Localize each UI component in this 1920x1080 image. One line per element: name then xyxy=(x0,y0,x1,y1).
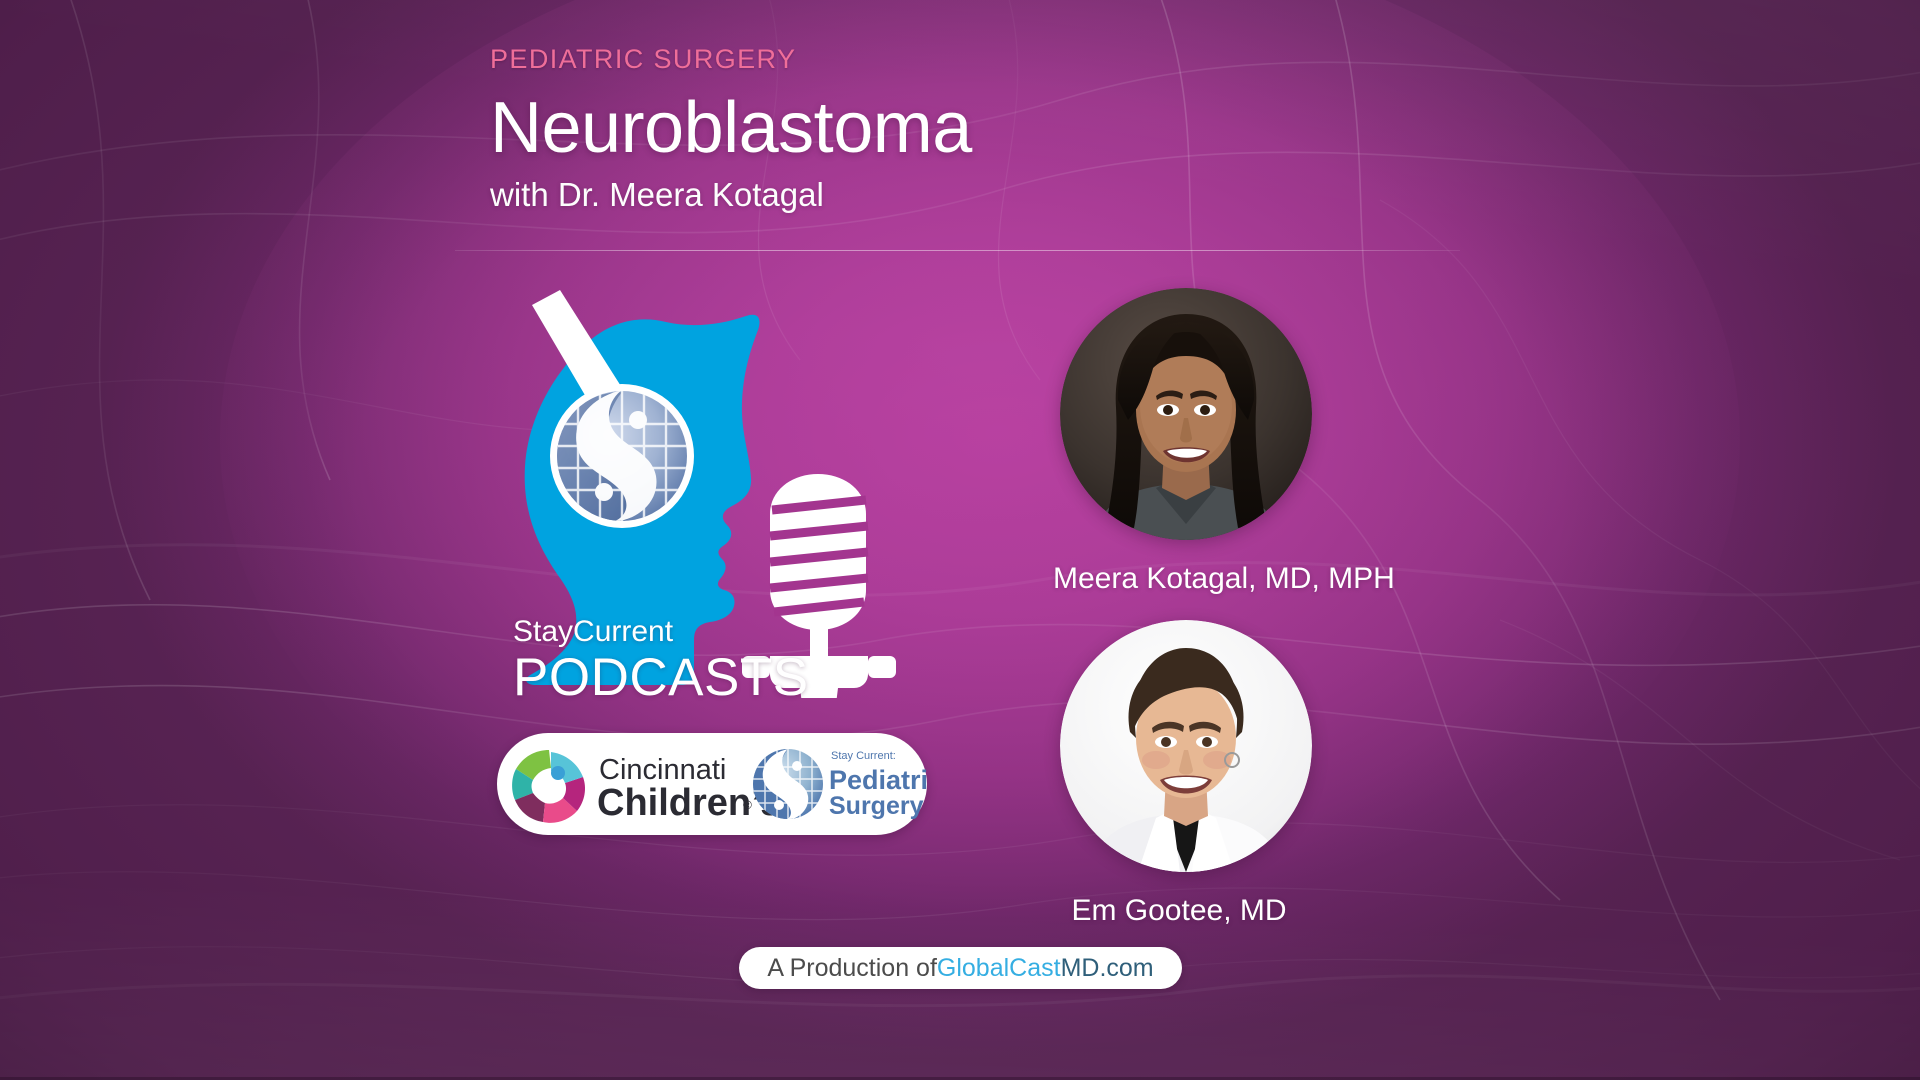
episode-title: Neuroblastoma xyxy=(490,89,972,167)
badge-dept-line1: Pediatric xyxy=(829,765,927,795)
header-divider xyxy=(455,250,1460,251)
podcast-brand-text: StayCurrent PODCASTS xyxy=(513,616,843,706)
globe-yinyang-icon xyxy=(550,384,694,528)
production-credit-pill[interactable]: A Production of GlobalCastMD.com xyxy=(739,947,1182,989)
badge-org-registered: ® xyxy=(743,798,752,812)
badge-dept-line2: Surgery xyxy=(829,792,924,820)
series-kicker: PEDIATRIC SURGERY xyxy=(490,44,972,75)
cincinnati-childrens-pinwheel-icon xyxy=(512,750,585,823)
brand-podcasts: PODCASTS xyxy=(513,650,843,706)
brand-staycurrent: StayCurrent xyxy=(513,616,843,648)
header-block: PEDIATRIC SURGERY Neuroblastoma with Dr.… xyxy=(490,44,972,214)
episode-subtitle: with Dr. Meera Kotagal xyxy=(490,176,972,214)
globalcast-brand: GlobalCast xyxy=(937,954,1061,983)
speaker-name: Em Gootee, MD xyxy=(1053,894,1305,928)
title-card-stage: PEDIATRIC SURGERY Neuroblastoma with Dr.… xyxy=(0,0,1920,1080)
avatar xyxy=(1060,620,1312,872)
speaker-card-1: Meera Kotagal, MD, MPH xyxy=(1060,288,1312,596)
globalcast-domain: MD.com xyxy=(1061,954,1154,983)
speaker-name: Meera Kotagal, MD, MPH xyxy=(1053,562,1305,596)
production-prefix: A Production of xyxy=(767,954,937,983)
badge-dept-kicker: Stay Current: xyxy=(831,750,896,762)
avatar xyxy=(1060,288,1312,540)
cincinnati-childrens-badge: Cincinnati Children’s ® xyxy=(497,733,927,835)
speaker-card-2: Em Gootee, MD xyxy=(1060,620,1312,928)
